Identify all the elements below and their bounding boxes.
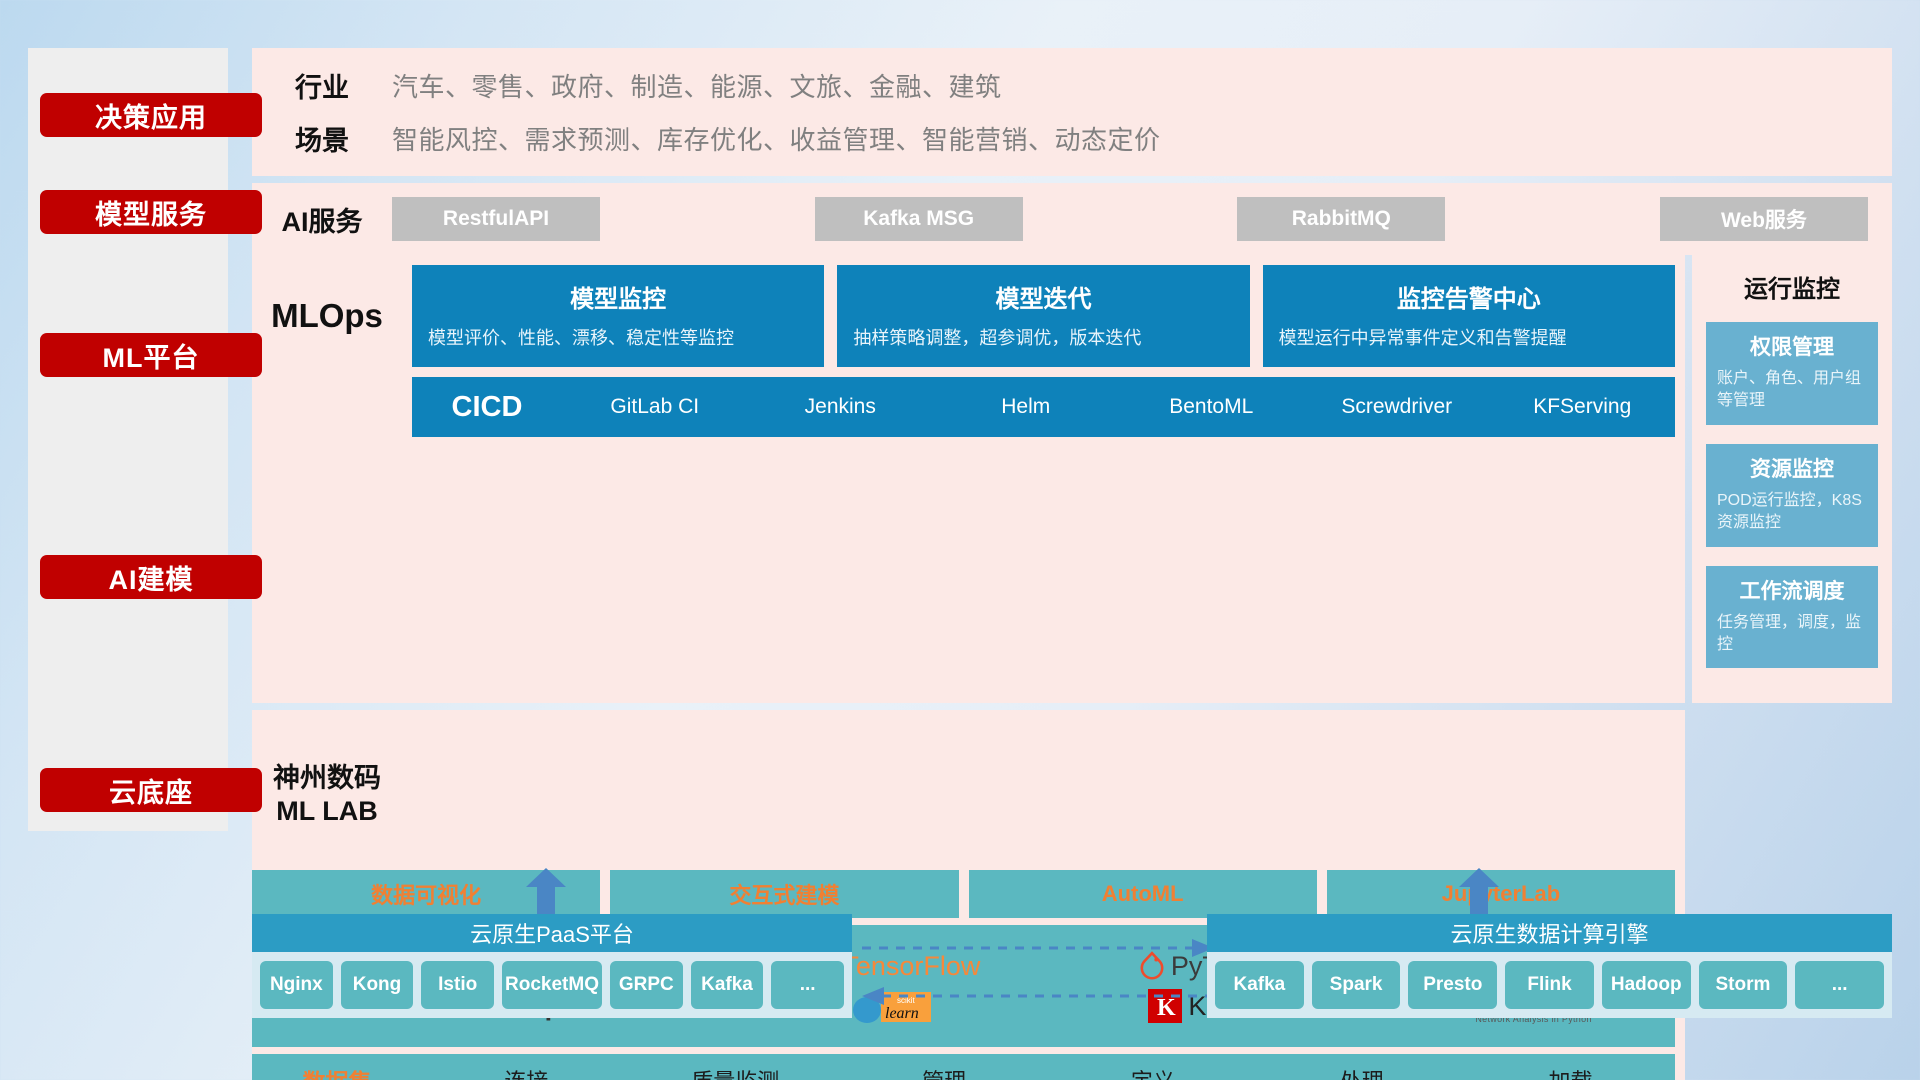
card-desc: 账户、角色、用户组等管理 bbox=[1717, 368, 1867, 413]
rail-label: AI建模 bbox=[109, 558, 194, 597]
card-title: 工作流调度 bbox=[1717, 575, 1867, 605]
engine-chip-presto[interactable]: Presto bbox=[1408, 961, 1497, 1009]
runtime-monitor-title: 运行监控 bbox=[1706, 269, 1878, 304]
monitor-card-permission[interactable]: 权限管理 账户、角色、用户组等管理 bbox=[1706, 322, 1878, 425]
architecture-diagram: 决策应用 模型服务 ML平台 AI建模 云底座 行业 汽车、零售、政府、制造、能… bbox=[0, 0, 1920, 1080]
engine-chip-flink[interactable]: Flink bbox=[1505, 961, 1594, 1009]
cicd-title: CICD bbox=[412, 391, 562, 424]
cicd-item-jenkins[interactable]: Jenkins bbox=[748, 395, 934, 419]
rail-label: ML平台 bbox=[103, 336, 200, 375]
card-title: 模型迭代 bbox=[853, 279, 1233, 314]
band-ai-service: AI服务 RestfulAPI Kafka MSG RabbitMQ Web服务 bbox=[252, 183, 1892, 255]
engine-chip-spark[interactable]: Spark bbox=[1312, 961, 1401, 1009]
dataset-item-manage[interactable]: 管理 bbox=[840, 1064, 1049, 1080]
card-desc: 任务管理，调度，监控 bbox=[1717, 612, 1867, 657]
dataset-item-define[interactable]: 定义 bbox=[1048, 1064, 1257, 1080]
card-desc: 抽样策略调整，超参调优，版本迭代 bbox=[853, 325, 1233, 351]
rail-pill-model-service[interactable]: 模型服务 bbox=[40, 190, 262, 234]
mlops-card-model-monitoring[interactable]: 模型监控 模型评价、性能、漂移、稳定性等监控 bbox=[412, 265, 824, 367]
engine-chip-storm[interactable]: Storm bbox=[1699, 961, 1788, 1009]
data-engine-title: 云原生数据计算引擎 bbox=[1207, 914, 1892, 952]
paas-chip-kafka[interactable]: Kafka bbox=[691, 961, 764, 1009]
card-title: 监控告警中心 bbox=[1279, 279, 1659, 314]
paas-platform-column: 云原生PaaS平台 Nginx Kong Istio RocketMQ GRPC… bbox=[252, 914, 852, 1018]
cicd-bar: CICD GitLab CI Jenkins Helm BentoML Scre… bbox=[412, 377, 1675, 437]
card-desc: 模型运行中异常事件定义和告警提醒 bbox=[1279, 325, 1659, 351]
cicd-item-group: GitLab CI Jenkins Helm BentoML Screwdriv… bbox=[562, 395, 1675, 419]
ml-lab-label: 神州数码ML LAB bbox=[252, 720, 402, 870]
cicd-item-kfserving[interactable]: KFServing bbox=[1490, 395, 1676, 419]
rail-label: 决策应用 bbox=[95, 96, 207, 135]
mlops-card-model-iteration[interactable]: 模型迭代 抽样策略调整，超参调优，版本迭代 bbox=[837, 265, 1249, 367]
rail-pill-ml-platform[interactable]: ML平台 bbox=[40, 333, 262, 377]
rail-pill-decision-app[interactable]: 决策应用 bbox=[40, 93, 262, 137]
rail-pill-ai-modeling[interactable]: AI建模 bbox=[40, 555, 262, 599]
arrow-up-right-icon bbox=[1457, 868, 1501, 914]
dataset-item-load[interactable]: 加载 bbox=[1466, 1064, 1675, 1080]
ai-service-label: AI服务 bbox=[252, 200, 392, 239]
arrow-up-left-icon bbox=[524, 868, 568, 914]
ai-service-chip-web-service[interactable]: Web服务 bbox=[1660, 197, 1868, 241]
industry-key: 行业 bbox=[252, 66, 392, 105]
data-engine-chip-group: Kafka Spark Presto Flink Hadoop Storm ..… bbox=[1207, 952, 1892, 1018]
paas-chip-kong[interactable]: Kong bbox=[341, 961, 414, 1009]
monitor-card-workflow[interactable]: 工作流调度 任务管理，调度，监控 bbox=[1706, 566, 1878, 669]
ai-service-chip-kafka-msg[interactable]: Kafka MSG bbox=[815, 197, 1023, 241]
data-engine-column: 云原生数据计算引擎 Kafka Spark Presto Flink Hadoo… bbox=[1207, 914, 1892, 1018]
mlops-section: MLOps 模型监控 模型评价、性能、漂移、稳定性等监控 模型迭代 抽样策略调整… bbox=[252, 255, 1685, 703]
paas-chip-group: Nginx Kong Istio RocketMQ GRPC Kafka ... bbox=[252, 952, 852, 1018]
engine-chip-kafka[interactable]: Kafka bbox=[1215, 961, 1304, 1009]
card-desc: 模型评价、性能、漂移、稳定性等监控 bbox=[428, 325, 808, 351]
foundation-section: 云原生PaaS平台 Nginx Kong Istio RocketMQ GRPC… bbox=[252, 876, 1892, 1046]
row-scenario: 场景 智能风控、需求预测、库存优化、收益管理、智能营销、动态定价 bbox=[252, 119, 1892, 158]
engine-chip-hadoop[interactable]: Hadoop bbox=[1602, 961, 1691, 1009]
band-ml-platform: MLOps 模型监控 模型评价、性能、漂移、稳定性等监控 模型迭代 抽样策略调整… bbox=[252, 255, 1892, 703]
dataset-item-process[interactable]: 处理 bbox=[1257, 1064, 1466, 1080]
cicd-item-bentoml[interactable]: BentoML bbox=[1119, 395, 1305, 419]
industry-value: 汽车、零售、政府、制造、能源、文旅、金融、建筑 bbox=[392, 67, 1002, 104]
paas-chip-grpc[interactable]: GRPC bbox=[610, 961, 683, 1009]
card-title: 模型监控 bbox=[428, 279, 808, 314]
ai-service-chip-group: RestfulAPI Kafka MSG RabbitMQ Web服务 bbox=[392, 197, 1868, 241]
layer-rail bbox=[28, 48, 228, 831]
dataset-label: 数据集 bbox=[252, 1063, 422, 1080]
ml-lab-label-line1: 神州数码 bbox=[273, 763, 381, 793]
scenario-key: 场景 bbox=[252, 119, 392, 158]
monitor-card-resource[interactable]: 资源监控 POD运行监控，K8S资源监控 bbox=[1706, 444, 1878, 547]
bidirectional-link-icon bbox=[862, 934, 1222, 1014]
paas-platform-title: 云原生PaaS平台 bbox=[252, 914, 852, 952]
cicd-item-screwdriver[interactable]: Screwdriver bbox=[1304, 395, 1490, 419]
ai-service-chip-rabbitmq[interactable]: RabbitMQ bbox=[1237, 197, 1445, 241]
card-desc: POD运行监控，K8S资源监控 bbox=[1717, 490, 1867, 535]
engine-chip-more[interactable]: ... bbox=[1795, 961, 1884, 1009]
paas-chip-istio[interactable]: Istio bbox=[421, 961, 494, 1009]
card-title: 权限管理 bbox=[1717, 331, 1867, 361]
mlops-card-alert-center[interactable]: 监控告警中心 模型运行中异常事件定义和告警提醒 bbox=[1263, 265, 1675, 367]
dataset-item-quality[interactable]: 质量监测 bbox=[631, 1064, 840, 1080]
dataset-item-connect[interactable]: 连接 bbox=[422, 1064, 631, 1080]
paas-chip-nginx[interactable]: Nginx bbox=[260, 961, 333, 1009]
rail-label: 模型服务 bbox=[95, 193, 207, 232]
dataset-row: 数据集 连接 质量监测 管理 定义 处理 加载 bbox=[252, 1054, 1675, 1080]
mlops-cards-row: MLOps 模型监控 模型评价、性能、漂移、稳定性等监控 模型迭代 抽样策略调整… bbox=[252, 255, 1685, 377]
runtime-monitor-panel: 运行监控 权限管理 账户、角色、用户组等管理 资源监控 POD运行监控，K8S资… bbox=[1692, 255, 1892, 703]
ml-lab-label-line2: ML LAB bbox=[276, 796, 378, 826]
row-industry: 行业 汽车、零售、政府、制造、能源、文旅、金融、建筑 bbox=[252, 66, 1892, 105]
dataset-item-group: 连接 质量监测 管理 定义 处理 加载 bbox=[422, 1064, 1675, 1080]
rail-label: 云底座 bbox=[109, 771, 193, 810]
card-title: 资源监控 bbox=[1717, 453, 1867, 483]
paas-chip-more[interactable]: ... bbox=[771, 961, 844, 1009]
rail-pill-cloud-base[interactable]: 云底座 bbox=[40, 768, 262, 812]
ai-service-chip-restfulapi[interactable]: RestfulAPI bbox=[392, 197, 600, 241]
scenario-value: 智能风控、需求预测、库存优化、收益管理、智能营销、动态定价 bbox=[392, 120, 1161, 157]
cicd-item-gitlab-ci[interactable]: GitLab CI bbox=[562, 395, 748, 419]
mlops-label: MLOps bbox=[252, 265, 402, 367]
band-decision-app: 行业 汽车、零售、政府、制造、能源、文旅、金融、建筑 场景 智能风控、需求预测、… bbox=[252, 48, 1892, 176]
cicd-item-helm[interactable]: Helm bbox=[933, 395, 1119, 419]
paas-chip-rocketmq[interactable]: RocketMQ bbox=[502, 961, 602, 1009]
mlops-card-group: 模型监控 模型评价、性能、漂移、稳定性等监控 模型迭代 抽样策略调整，超参调优，… bbox=[412, 265, 1675, 367]
